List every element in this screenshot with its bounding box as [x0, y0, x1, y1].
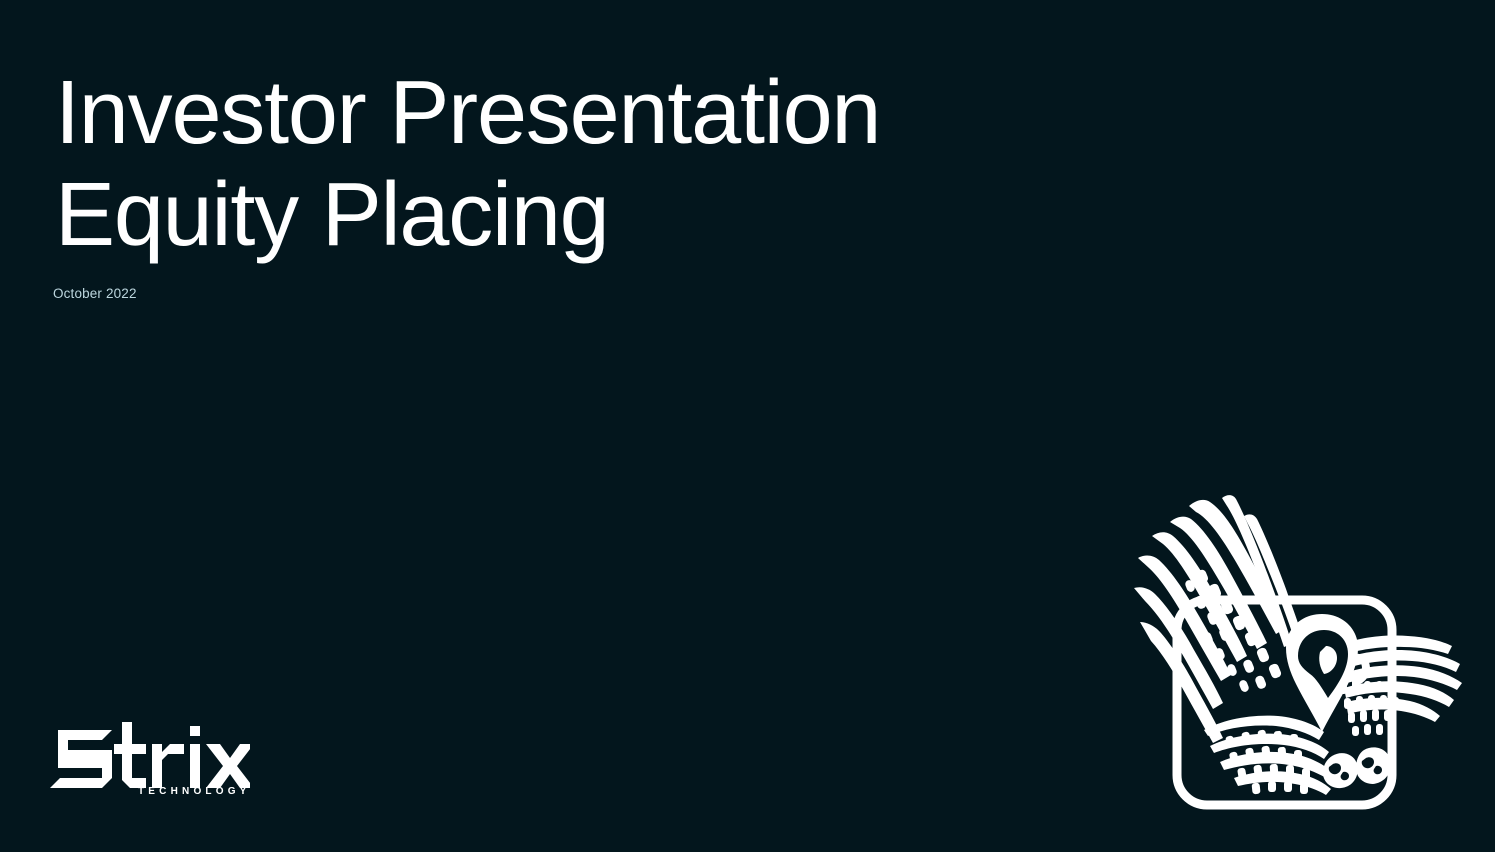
owl-emblem-icon	[1126, 488, 1476, 818]
logo-tagline: TECHNOLOGY	[138, 786, 251, 797]
title-line-1: Investor Presentation	[55, 62, 955, 164]
title-line-2: Equity Placing	[55, 164, 955, 266]
slide-date: October 2022	[53, 286, 137, 301]
owl-in-frame-emblem	[1126, 488, 1476, 818]
owl-figure	[1134, 495, 1462, 795]
talons	[1323, 747, 1391, 788]
presentation-title-slide: Investor Presentation Equity Placing Oct…	[0, 0, 1495, 852]
strix-logo: TECHNOLOGY	[50, 722, 290, 808]
strix-wordmark-icon	[50, 722, 250, 792]
page-title: Investor Presentation Equity Placing	[55, 62, 955, 266]
